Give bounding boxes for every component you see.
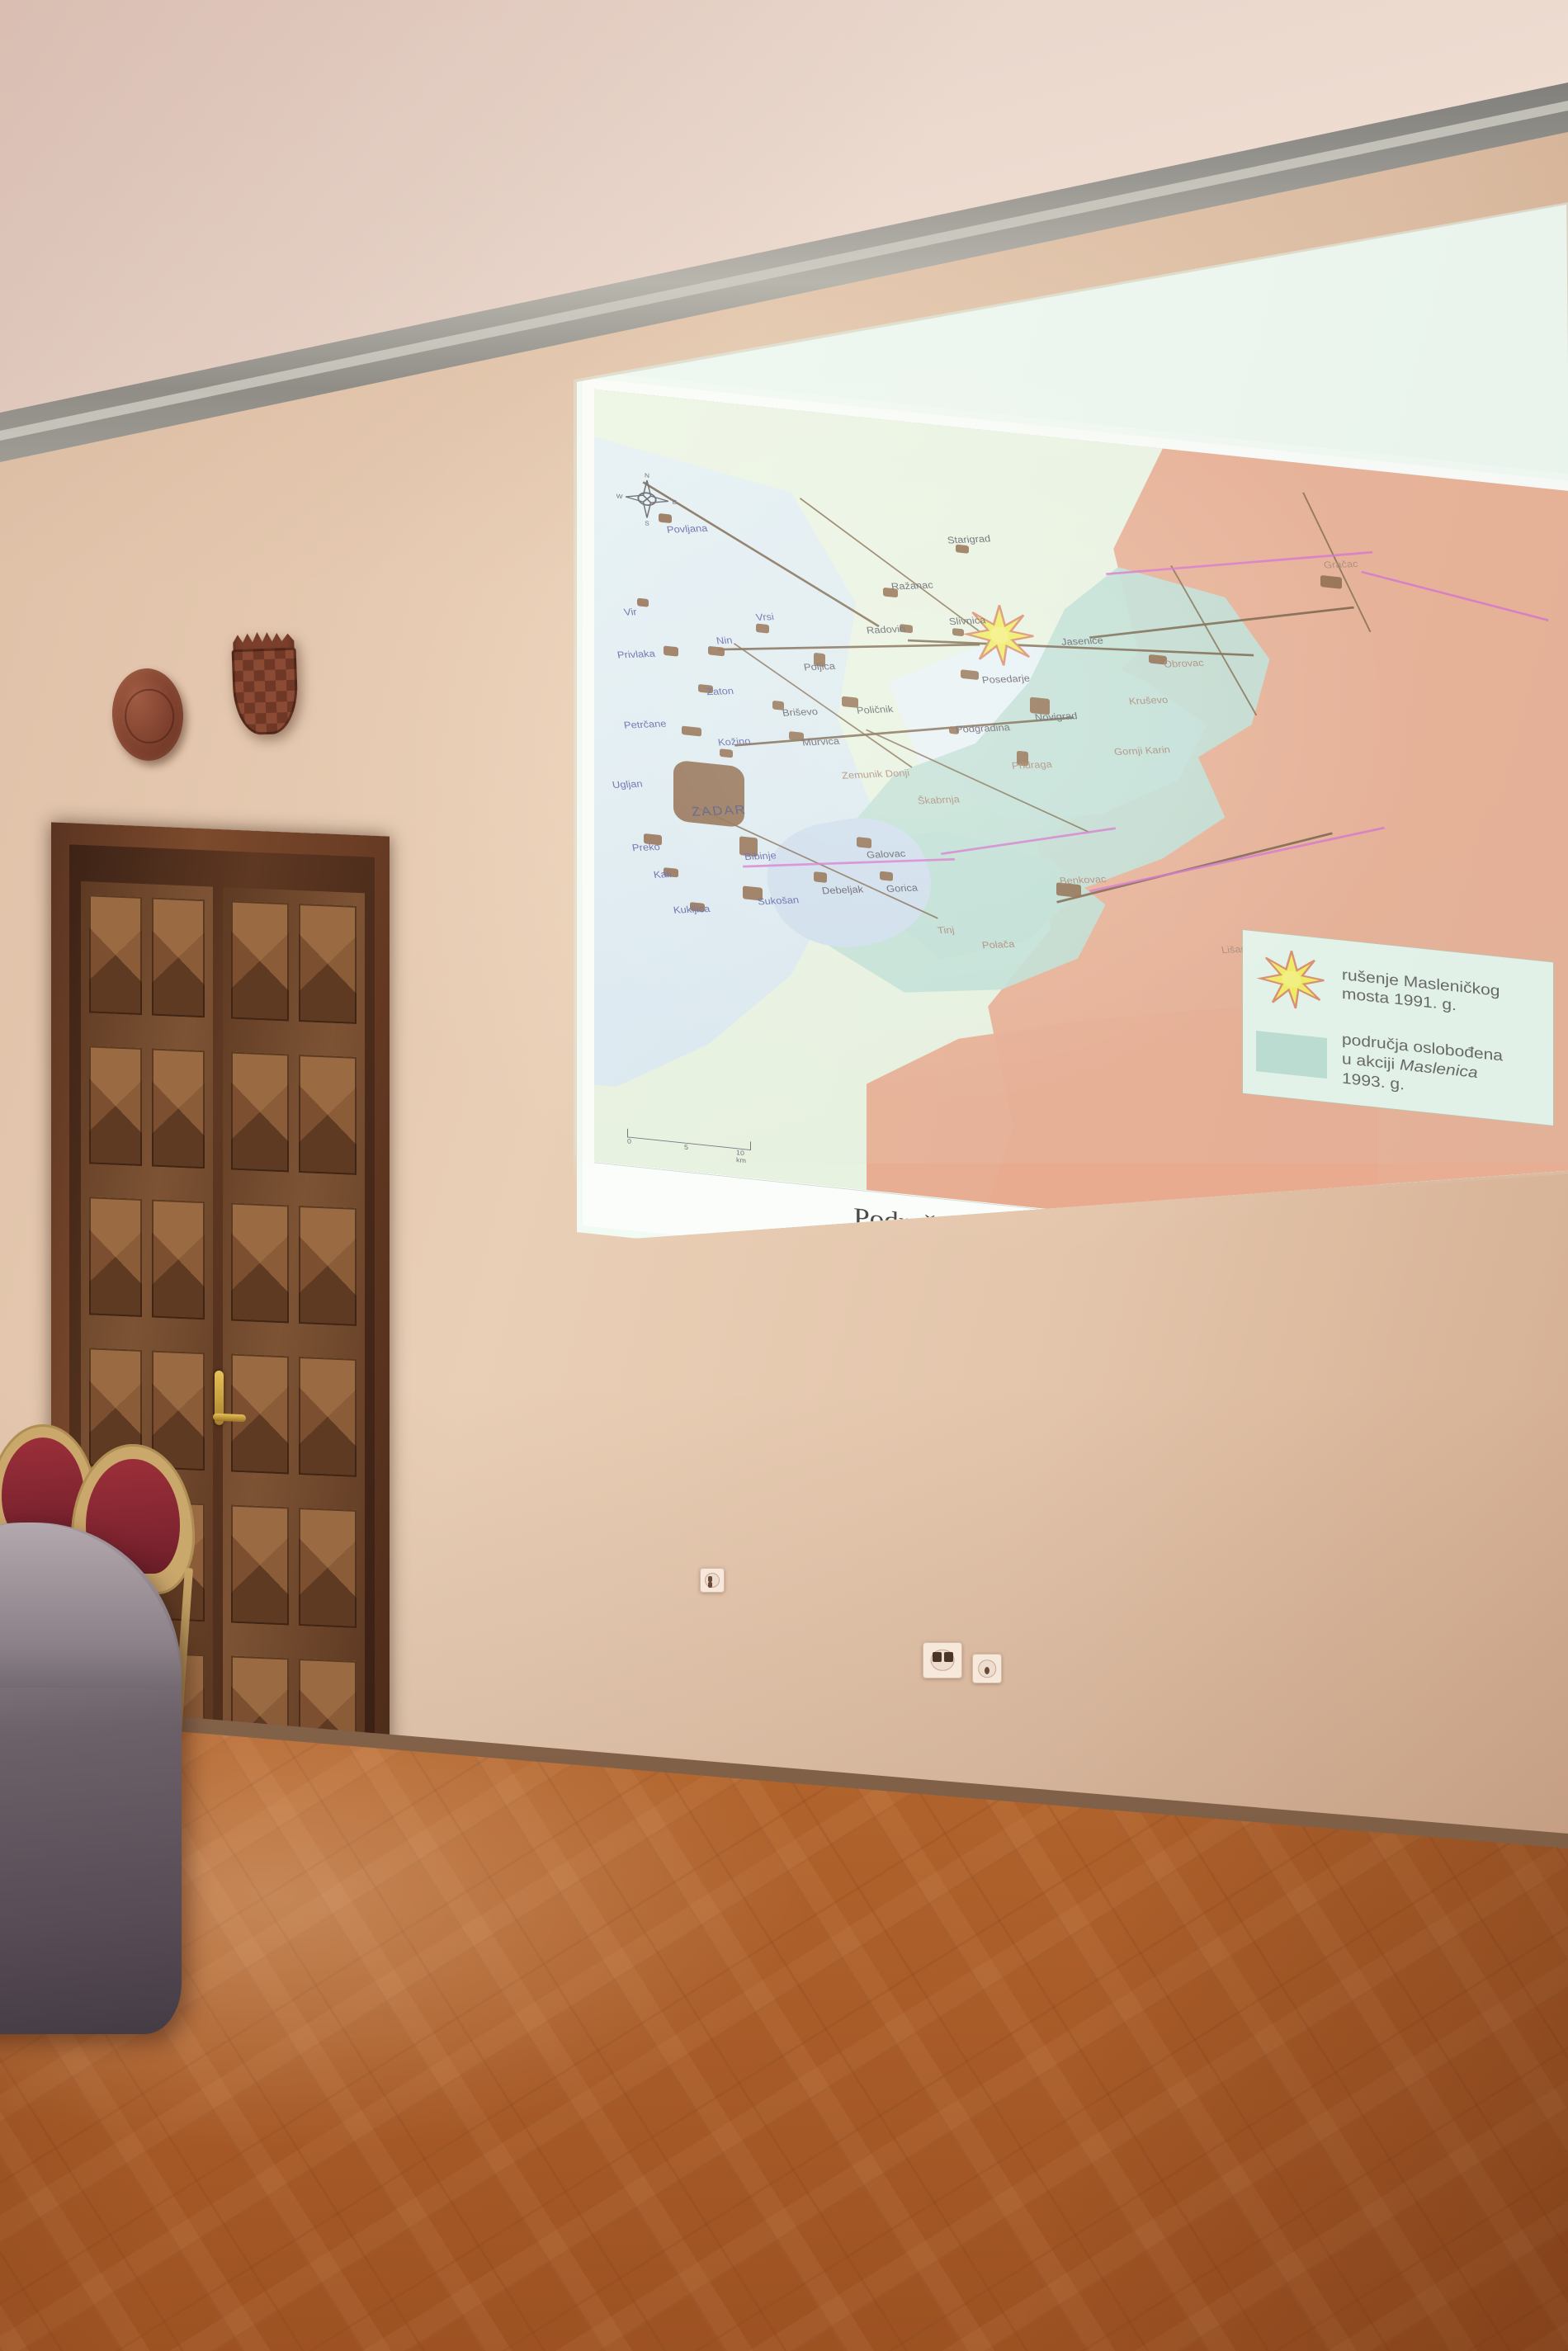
settlement-marker [708,646,725,657]
liberated-area-swatch [1256,1031,1327,1079]
legend-label-liberated-area: područja oslobođena u akciji Maslenica 1… [1342,1031,1503,1106]
map-label: Bibinje [744,850,777,862]
settlement-marker [720,748,733,758]
map-label: Petrčane [623,718,668,730]
door-leaf-right[interactable] [223,887,365,1792]
map-label: Briševo [782,706,819,718]
map-label: Gračac [1323,558,1359,570]
settlement-marker [1320,575,1342,589]
map-label: Preko [631,841,661,853]
round-table-with-cloth[interactable] [0,1522,182,2034]
map-label: Polača [981,938,1016,951]
map-label: Debeljak [821,884,864,896]
map-label: Jasenice [1060,635,1104,647]
croatian-coat-of-arms-plaque [231,630,299,736]
checkerboard-shield-icon [232,648,300,736]
map-label: Kali [653,868,673,880]
map-legend: rušenje Masleničkog mosta 1991. g. podru… [1243,930,1553,1126]
map-label: Vir [623,607,638,618]
svg-text:S: S [645,520,649,527]
scale-tick-10: 10 km [736,1149,751,1164]
explosion-star-icon [964,600,1035,669]
map-label: Starigrad [947,533,992,545]
scale-tick-0: 0 [627,1137,631,1145]
room-scene: N S W E PovljanaVirPrivlakaNinVrsiZatonP… [0,0,1568,2351]
map-label: Novigrad [1034,710,1079,723]
map-label: ZADAR [690,803,748,819]
map-label: Ražanac [890,579,934,592]
scale-tick-5: 5 [684,1144,688,1151]
map-label: Obrovac [1163,657,1205,669]
settlement-marker [880,871,893,881]
map-label: Murvica [801,735,840,748]
map-label: Nin [716,635,734,646]
map-label: Gorica [886,882,919,895]
legend-label-explosion: rušenje Masleničkog mosta 1991. g. [1342,965,1500,1021]
explosion-star-icon [1256,947,1327,1013]
settlement-marker [756,623,769,633]
map-label: Zaton [706,685,734,697]
map-label: Kožino [717,735,752,748]
map-label: Posedarje [981,673,1031,686]
legend-row-liberated-area: područja oslobođena u akciji Maslenica 1… [1256,1022,1538,1110]
svg-text:W: W [616,493,623,500]
slide-surface: N S W E PovljanaVirPrivlakaNinVrsiZatonP… [569,132,1568,1164]
map-label: Škabrnja [917,794,961,806]
map-label: Ugljan [612,778,644,791]
map-label: Benkovac [1059,873,1108,886]
settlement-marker [952,628,964,636]
map-label: Galovac [866,847,907,860]
map-label: Privlaka [616,648,656,660]
map-label: Kukljica [673,903,711,915]
legend-row-explosion: rušenje Masleničkog mosta 1991. g. [1256,947,1538,1036]
settlement-marker [814,871,827,883]
projected-slide: N S W E PovljanaVirPrivlakaNinVrsiZatonP… [569,132,1568,1164]
antenna-socket[interactable] [972,1654,1002,1683]
map-label: Kruševo [1128,694,1169,706]
settlement-marker [961,669,979,680]
map-label: Poljica [803,660,836,673]
map-canvas: N S W E PovljanaVirPrivlakaNinVrsiZatonP… [594,389,1568,1263]
map-label: Sukošan [757,895,800,907]
map-label: Slivnica [948,615,987,627]
map-label: Radovin [866,623,907,635]
map-label: Povljana [666,522,709,535]
map-label: Vrsi [755,611,775,622]
map-label: Podgradina [955,722,1011,735]
map-label: Poličnik [856,703,895,715]
brass-lever-handle-icon[interactable] [215,1371,224,1425]
settlement-marker [637,598,649,607]
settlement-marker [664,645,678,656]
compass-rose-icon: N S W E [616,468,678,530]
svg-text:N: N [645,472,649,479]
settlement-marker [857,837,871,848]
map-label: Tinj [937,924,956,936]
settlement-marker [956,545,969,554]
svg-text:E: E [673,498,678,506]
data-socket[interactable] [923,1642,962,1678]
map-label: Pridraga [1011,758,1053,771]
power-socket[interactable] [700,1568,725,1593]
